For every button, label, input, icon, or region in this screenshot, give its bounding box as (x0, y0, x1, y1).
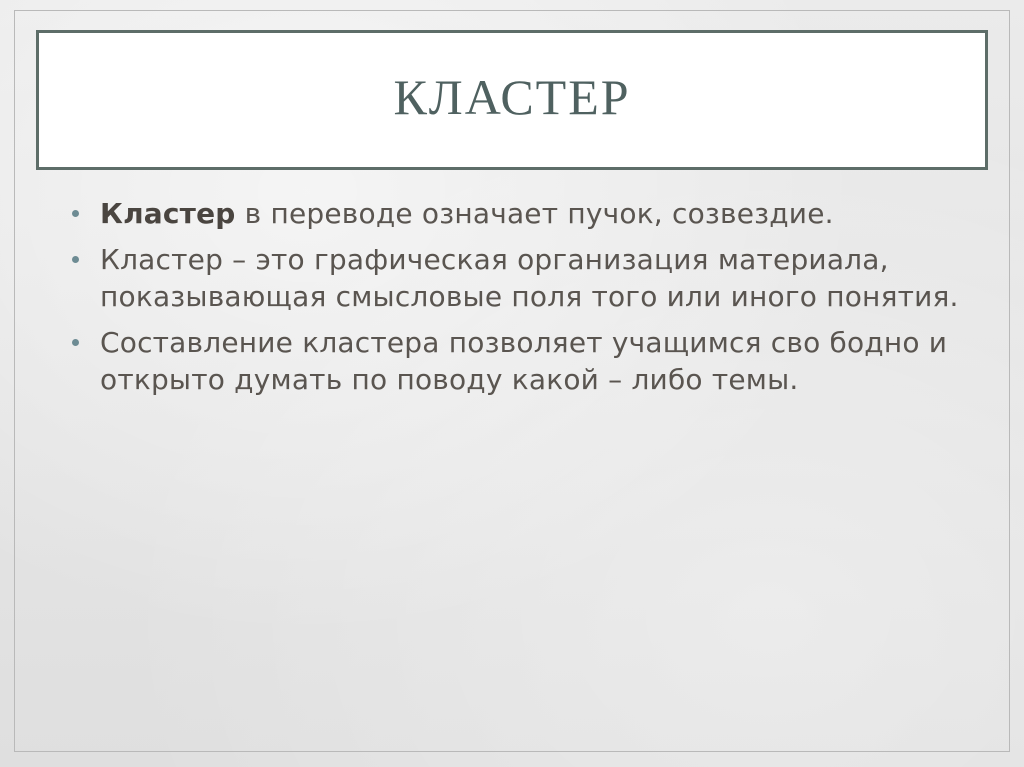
page-title: Кластер (393, 72, 630, 128)
bullet-dot-icon (72, 256, 79, 263)
list-item: Составление кластера позволяет учащимся … (60, 325, 960, 398)
bullet-dot-icon (72, 210, 79, 217)
bullet-dot-icon (72, 339, 79, 346)
bullet-list: Кластер в переводе означает пучок, созве… (60, 196, 960, 398)
bullet-text: Кластер – это графическая организация ма… (100, 243, 959, 312)
bullet-text: Составление кластера позволяет учащимся … (100, 326, 947, 395)
body-content: Кластер в переводе означает пучок, созве… (60, 196, 960, 408)
bullet-lead-text: Кластер (100, 197, 236, 230)
title-box: Кластер (36, 30, 988, 170)
list-item: Кластер в переводе означает пучок, созве… (60, 196, 960, 232)
bullet-text: в переводе означает пучок, созвездие. (236, 197, 834, 230)
slide: Кластер Кластер в переводе означает пучо… (0, 0, 1024, 767)
list-item: Кластер – это графическая организация ма… (60, 242, 960, 315)
